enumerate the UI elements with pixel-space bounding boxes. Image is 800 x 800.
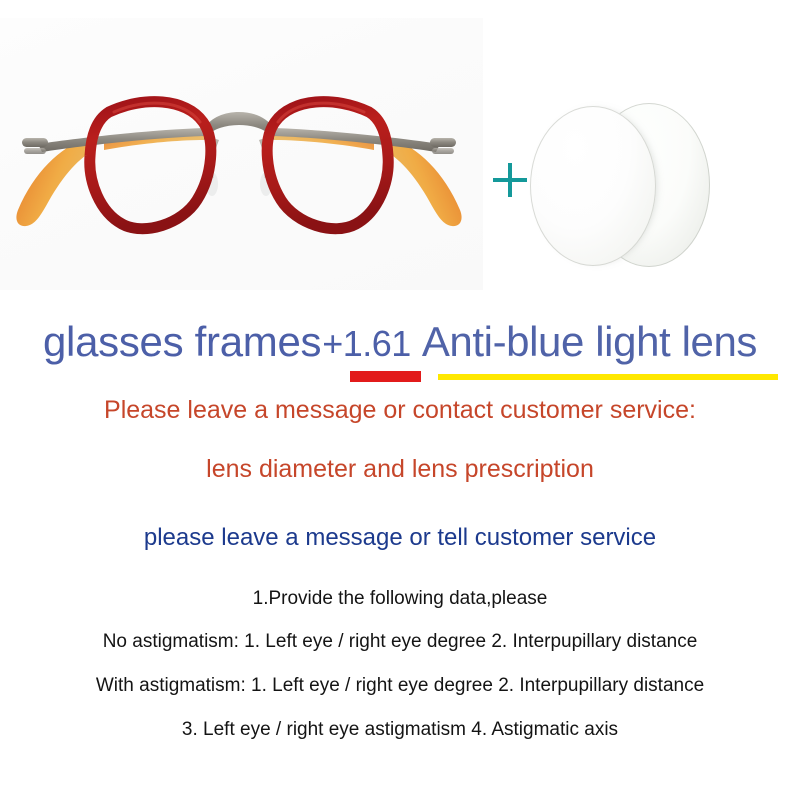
headline: glasses frames +1.61 Anti-blue light len… (0, 318, 800, 370)
headline-lens-text: Anti-blue light lens (422, 318, 757, 366)
product-listing-image: glasses frames +1.61 Anti-blue light len… (0, 0, 800, 800)
headline-power-text: +1.61 (322, 323, 411, 365)
plus-icon (493, 163, 527, 197)
instruction-line-3: With astigmatism: 1. Left eye / right ey… (0, 675, 800, 697)
headline-frames-text: glasses frames (43, 318, 321, 366)
product-photo-band (0, 0, 800, 310)
lens-front (530, 106, 656, 266)
notice-line-2: lens diameter and lens prescription (0, 455, 800, 484)
instruction-line-4: 3. Left eye / right eye astigmatism 4. A… (0, 719, 800, 741)
eyeglasses-frames-image (8, 60, 470, 260)
plus-icon-vertical-bar (508, 163, 512, 197)
instruction-line-1: 1.Provide the following data,please (0, 588, 800, 610)
instruction-line-2: No astigmatism: 1. Left eye / right eye … (0, 631, 800, 653)
headline-lens-underline (438, 374, 778, 380)
notice-line-1: Please leave a message or contact custom… (0, 396, 800, 425)
eyeglass-lenses-image (530, 100, 752, 270)
headline-power-underline (350, 371, 421, 382)
call-to-action-text: please leave a message or tell customer … (0, 524, 800, 552)
